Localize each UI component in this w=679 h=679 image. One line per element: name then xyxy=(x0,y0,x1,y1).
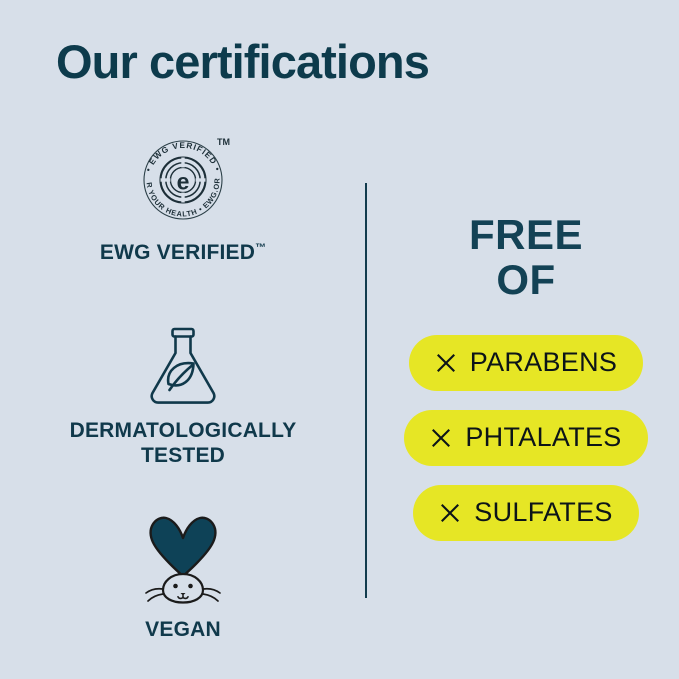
svg-text:TM: TM xyxy=(217,137,230,147)
free-of-pill-label: PARABENS xyxy=(470,347,617,378)
certifications-column: • EWG VERIFIED • • FOR YOUR HEALTH • EWG… xyxy=(18,128,348,643)
free-of-column: FREEOF PARABENS PHTALATES SULFATES xyxy=(392,212,660,541)
x-mark-icon xyxy=(430,427,452,449)
free-of-pill-parabens: PARABENS xyxy=(409,335,643,391)
certification-label: VEGAN xyxy=(145,618,221,643)
free-of-pill-sulfates: SULFATES xyxy=(413,485,638,541)
free-of-pill-label: PHTALATES xyxy=(465,422,621,453)
ewg-label-text: EWG VERIFIED xyxy=(100,241,255,264)
page-title: Our certifications xyxy=(56,36,429,88)
certification-dermatologically-tested: DERMATOLOGICALLYTESTED xyxy=(18,322,348,469)
free-of-heading: FREEOF xyxy=(469,212,583,303)
certification-label: DERMATOLOGICALLYTESTED xyxy=(70,419,297,469)
free-of-pill-list: PARABENS PHTALATES SULFATES xyxy=(404,335,647,541)
free-of-pill-label: SULFATES xyxy=(474,497,612,528)
derm-label-line2: TESTED xyxy=(141,444,225,467)
certification-vegan: VEGAN xyxy=(18,510,348,643)
x-mark-icon xyxy=(439,502,461,524)
certifications-infographic: Our certifications • EWG VERIFIED • xyxy=(0,0,679,679)
derm-label-line1: DERMATOLOGICALLY xyxy=(70,419,297,442)
certification-ewg-verified: • EWG VERIFIED • • FOR YOUR HEALTH • EWG… xyxy=(18,128,348,266)
x-mark-icon xyxy=(435,352,457,374)
free-of-heading-line2: OF xyxy=(496,256,555,303)
certification-label: EWG VERIFIED™ xyxy=(100,241,266,266)
svg-text:e: e xyxy=(177,169,190,195)
trademark-symbol: ™ xyxy=(255,242,266,254)
flask-with-leaf-icon xyxy=(141,322,225,406)
ewg-verified-seal-icon: • EWG VERIFIED • • FOR YOUR HEALTH • EWG… xyxy=(133,128,233,228)
free-of-heading-line1: FREE xyxy=(469,211,583,258)
rabbit-heart-ears-icon xyxy=(133,510,233,605)
free-of-pill-phtalates: PHTALATES xyxy=(404,410,647,466)
column-divider xyxy=(365,183,367,598)
